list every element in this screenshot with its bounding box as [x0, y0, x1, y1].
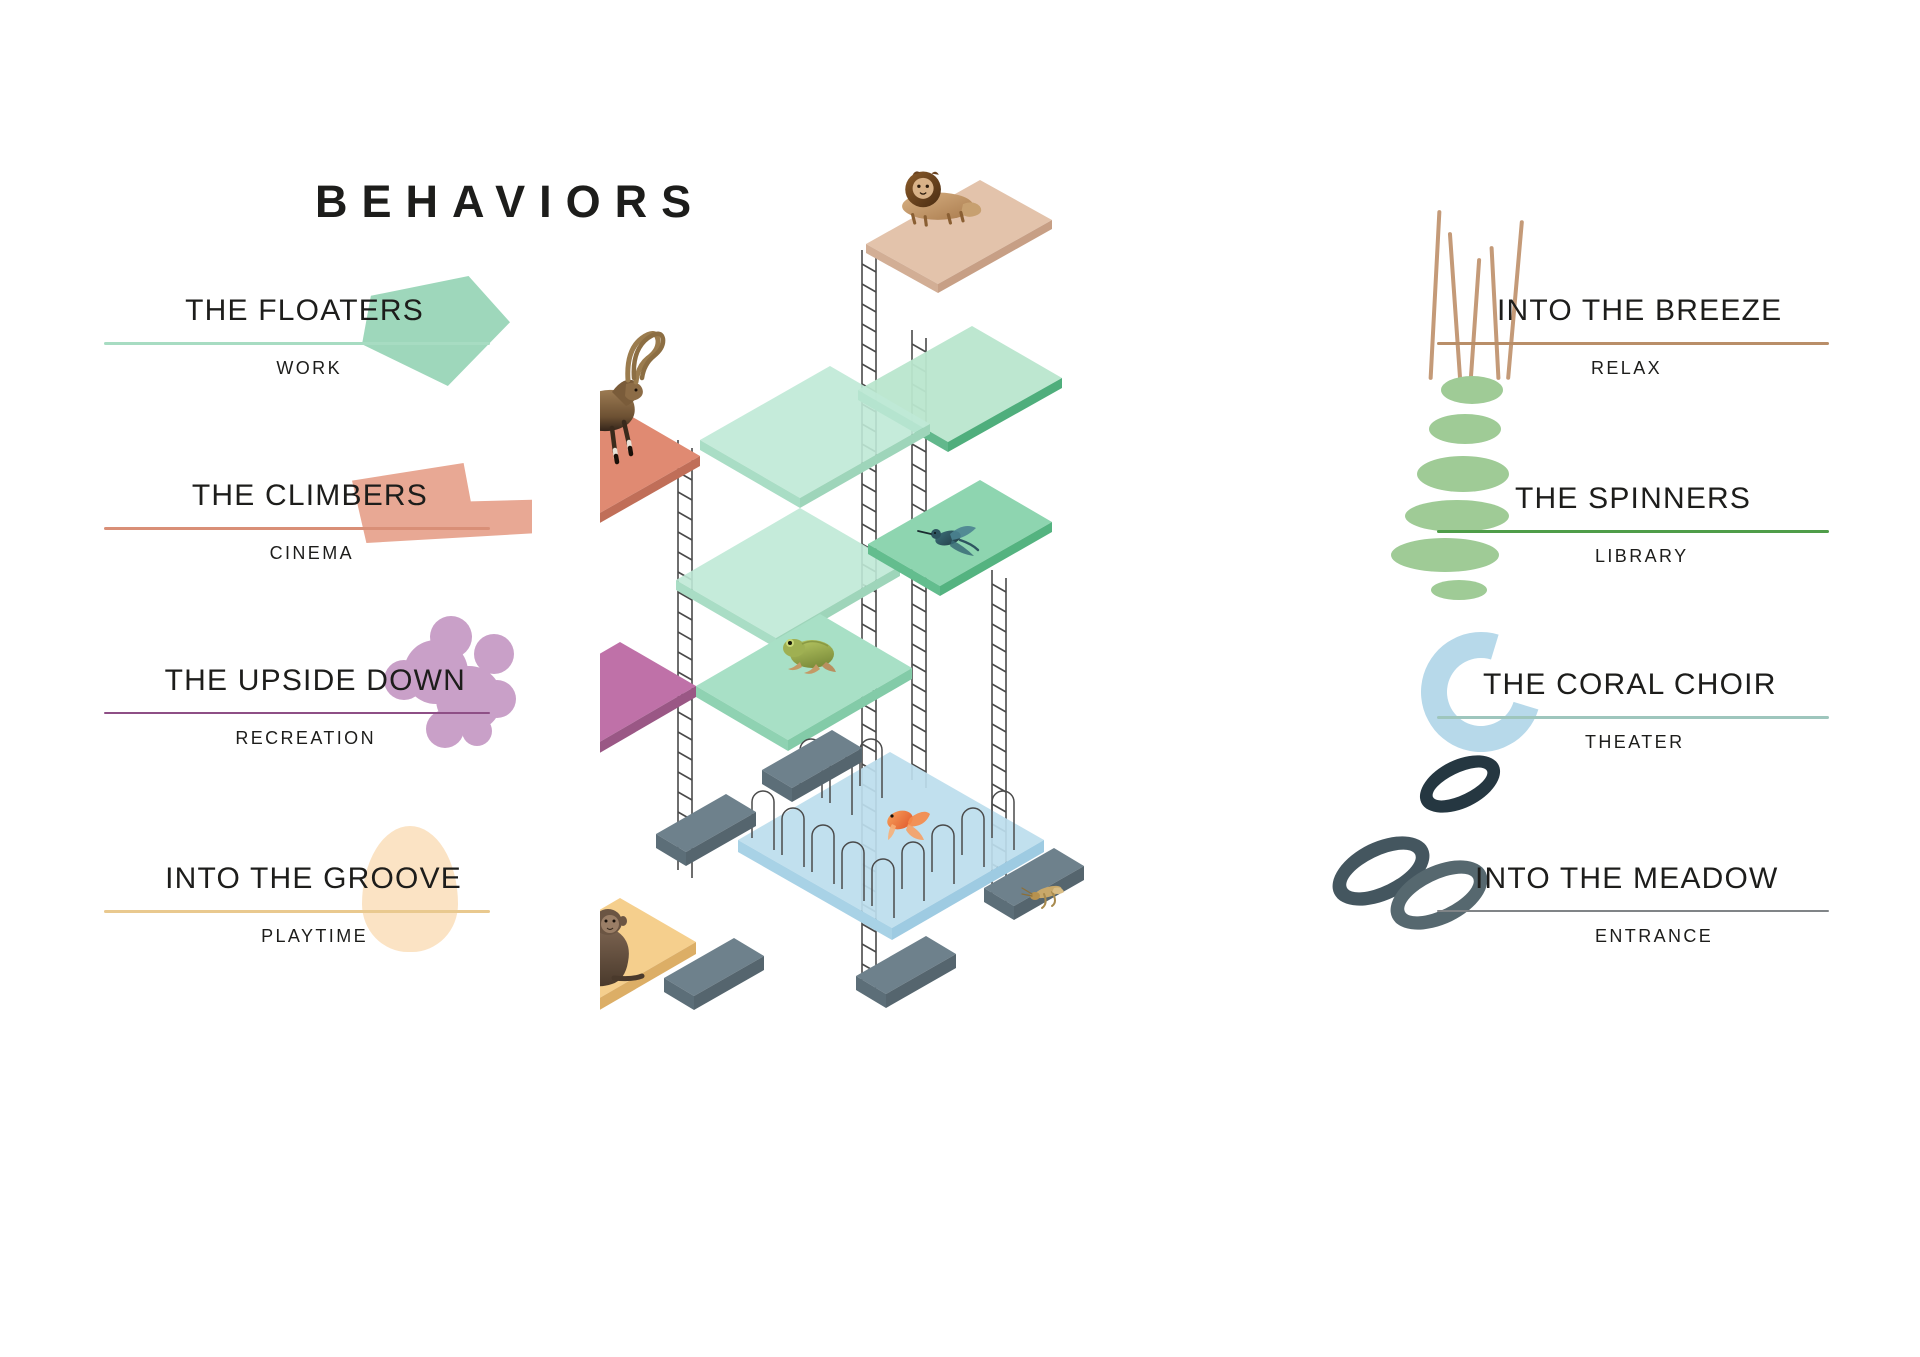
- legend-item-the-climbers[interactable]: THE CLIMBERS CINEMA: [100, 455, 490, 585]
- plank: [656, 794, 756, 866]
- plank: [856, 936, 956, 1008]
- legend-item-rule: [1437, 530, 1829, 533]
- legend-item-the-spinners[interactable]: THE SPINNERS LIBRARY: [1435, 458, 1830, 588]
- legend-item-the-coral-choir[interactable]: THE CORAL CHOIR THEATER: [1435, 644, 1830, 774]
- scene-svg: [600, 140, 1320, 1150]
- platform-frog: [696, 614, 912, 751]
- pentagon-blob-icon: [362, 276, 510, 386]
- legend-item-title: THE CLIMBERS: [192, 479, 428, 513]
- legend-item-the-floaters[interactable]: THE FLOATERS WORK: [100, 270, 490, 400]
- legend-item-the-upside-down[interactable]: THE UPSIDE DOWN RECREATION: [100, 640, 490, 770]
- platform-ibex: [600, 412, 700, 532]
- legend-item-title: INTO THE MEADOW: [1475, 862, 1779, 896]
- legend-item-title: THE FLOATERS: [185, 294, 424, 328]
- legend-item-title: THE SPINNERS: [1515, 482, 1751, 516]
- isometric-playground-diagram: [600, 140, 1320, 1150]
- stacked-stones-icon: [1405, 376, 1515, 576]
- legend-item-subtitle: WORK: [276, 358, 342, 379]
- platform-ant: [600, 642, 696, 769]
- poster-canvas: BEHAVIORS: [0, 0, 1920, 1357]
- legend-item-into-the-meadow[interactable]: INTO THE MEADOW ENTRANCE: [1435, 838, 1830, 968]
- legend-item-subtitle: RECREATION: [235, 728, 376, 749]
- legend-item-rule: [104, 527, 490, 530]
- legend-item-into-the-breeze[interactable]: INTO THE BREEZE RELAX: [1435, 270, 1830, 400]
- legend-item-title: INTO THE BREEZE: [1497, 294, 1782, 328]
- legend-item-rule: [104, 910, 490, 913]
- legend-item-subtitle: ENTRANCE: [1595, 926, 1713, 947]
- legend-item-rule: [104, 342, 490, 345]
- three-rings-icon: [1363, 780, 1503, 920]
- legend-item-into-the-groove[interactable]: INTO THE GROOVE PLAYTIME: [100, 838, 490, 968]
- legend-item-subtitle: PLAYTIME: [261, 926, 368, 947]
- legend-item-title: INTO THE GROOVE: [165, 862, 462, 896]
- legend-item-subtitle: LIBRARY: [1595, 546, 1689, 567]
- ladder: [678, 440, 692, 878]
- legend-item-subtitle: CINEMA: [270, 543, 354, 564]
- legend-item-subtitle: THEATER: [1585, 732, 1684, 753]
- legend-item-title: THE CORAL CHOIR: [1483, 668, 1777, 702]
- legend-item-title: THE UPSIDE DOWN: [165, 664, 466, 698]
- legend-item-subtitle: RELAX: [1591, 358, 1662, 379]
- legend-item-rule: [1437, 716, 1829, 719]
- legend-item-rule: [104, 712, 490, 714]
- legend-item-rule: [1437, 342, 1829, 345]
- legend-item-rule: [1437, 910, 1829, 912]
